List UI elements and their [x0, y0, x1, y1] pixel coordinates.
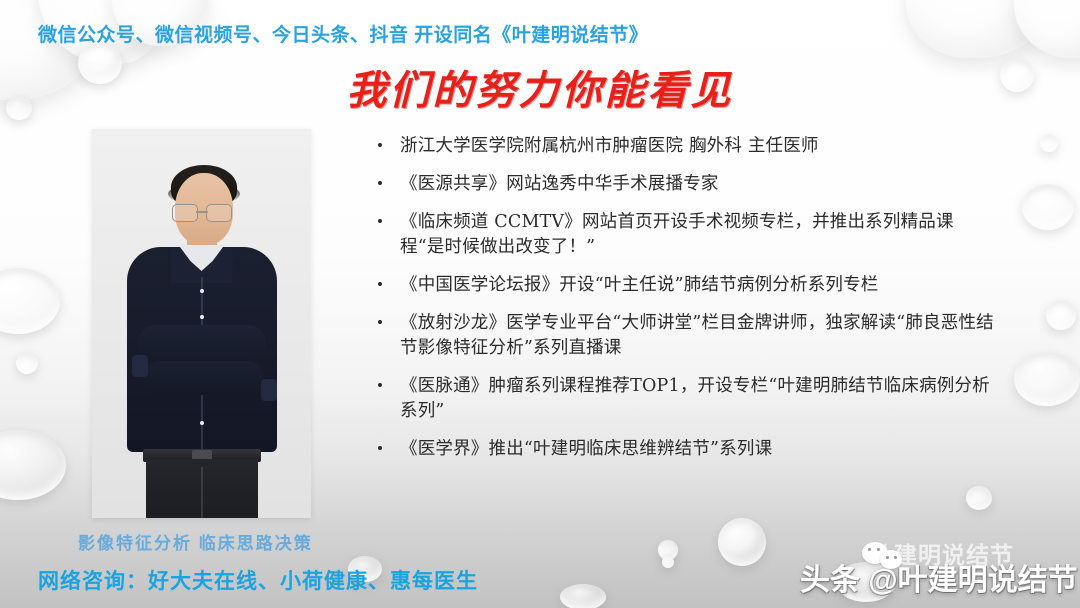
- watermark-main-text: 头条 @叶建明说结节: [800, 555, 1078, 599]
- portrait-shirt-button: [200, 289, 204, 293]
- bullet-dot-icon: [378, 320, 382, 324]
- portrait-shirt-button: [200, 315, 204, 319]
- doctor-portrait-photo: [92, 129, 311, 518]
- footer-tagline: 影像特征分析 临床思路决策: [78, 529, 313, 554]
- credentials-list: 浙江大学医学院附属杭州市肿瘤医院 胸外科 主任医师 《医源共享》网站逸秀中华手术…: [372, 134, 996, 475]
- background-droplet: [966, 486, 992, 510]
- list-item: 《放射沙龙》医学专业平台“大师讲堂”栏目金牌讲师，独家解读“肺良恶性结节影像特征…: [372, 311, 996, 361]
- background-droplet: [560, 584, 606, 608]
- list-item: 《医源共享》网站逸秀中华手术展播专家: [372, 172, 996, 197]
- background-droplet: [78, 42, 122, 84]
- bullet-dot-icon: [378, 282, 382, 286]
- list-item-text: 《医学界》推出“叶建明临床思维辨结节”系列课: [400, 439, 772, 459]
- bullet-dot-icon: [378, 181, 382, 185]
- background-droplet: [658, 540, 678, 560]
- bullet-dot-icon: [378, 383, 382, 387]
- list-item: 《临床频道 CCMTV》网站首页开设手术视频专栏，并推出系列精品课程“是时候做出…: [372, 210, 996, 260]
- bullet-dot-icon: [378, 143, 382, 147]
- background-droplet: [0, 268, 60, 334]
- header-channels-line: 微信公众号、微信视频号、今日头条、抖音 开设同名《叶建明说结节》: [38, 20, 648, 47]
- portrait-cuff: [132, 355, 148, 377]
- background-droplet: [1040, 134, 1058, 152]
- background-droplet: [0, 430, 66, 500]
- slide-canvas: 微信公众号、微信视频号、今日头条、抖音 开设同名《叶建明说结节》 我们的努力你能…: [0, 0, 1080, 608]
- list-item-text: 《中国医学论坛报》开设“叶主任说”肺结节病例分析系列专栏: [400, 275, 879, 295]
- background-droplet: [1014, 352, 1080, 406]
- portrait-trousers: [146, 459, 258, 518]
- portrait-cuff: [261, 379, 277, 401]
- list-item: 《医学界》推出“叶建明临床思维辨结节”系列课: [372, 437, 996, 462]
- bullet-dot-icon: [378, 446, 382, 450]
- portrait-shirt-button: [200, 421, 204, 425]
- background-droplet: [662, 556, 674, 568]
- list-item: 《中国医学论坛报》开设“叶主任说”肺结节病例分析系列专栏: [372, 273, 996, 298]
- footer-consult-line: 网络咨询：好大夫在线、小荷健康、惠每医生: [38, 565, 478, 595]
- list-item-text: 《放射沙龙》医学专业平台“大师讲堂”栏目金牌讲师，独家解读“肺良恶性结节影像特征…: [400, 313, 994, 358]
- background-droplet: [1000, 58, 1034, 92]
- background-blob: [0, 0, 110, 100]
- portrait-arm-upper: [138, 325, 266, 361]
- background-droplet: [1046, 300, 1076, 330]
- list-item-text: 《临床频道 CCMTV》网站首页开设手术视频专栏，并推出系列精品课程“是时候做出…: [400, 212, 954, 257]
- background-droplet: [1022, 184, 1074, 230]
- list-item-text: 《医源共享》网站逸秀中华手术展播专家: [400, 174, 719, 194]
- glasses-icon: [172, 204, 232, 221]
- portrait-arm-lower: [144, 361, 264, 395]
- list-item: 浙江大学医学院附属杭州市肿瘤医院 胸外科 主任医师: [372, 134, 996, 159]
- background-droplet: [718, 518, 766, 566]
- page-title: 我们的努力你能看见: [330, 58, 750, 116]
- background-blob: [1014, 0, 1080, 58]
- bullet-dot-icon: [378, 219, 382, 223]
- background-blob: [906, 0, 1056, 58]
- background-droplet: [6, 96, 32, 120]
- background-droplet: [16, 352, 38, 374]
- list-item-text: 《医脉通》肿瘤系列课程推荐TOP1，开设专栏“叶建明肺结节临床病例分析系列”: [400, 376, 990, 421]
- list-item-text: 浙江大学医学院附属杭州市肿瘤医院 胸外科 主任医师: [400, 136, 819, 156]
- list-item: 《医脉通》肿瘤系列课程推荐TOP1，开设专栏“叶建明肺结节临床病例分析系列”: [372, 374, 996, 424]
